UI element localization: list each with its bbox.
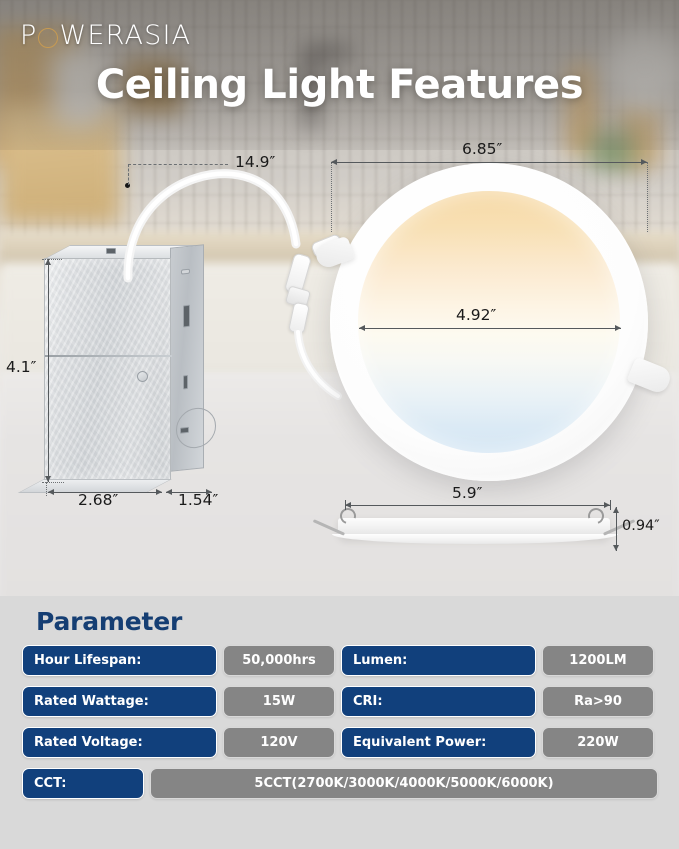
parameter-section-title: Parameter <box>36 607 182 636</box>
logo-text-after: WERASIA <box>59 20 191 51</box>
downlight-side-profile <box>320 500 630 558</box>
parameter-panel: Parameter Hour Lifespan: 50,000hrs Lumen… <box>0 596 679 849</box>
param-value-rated-voltage: 120V <box>223 727 335 758</box>
ext-line-jbox-left <box>46 482 47 496</box>
profile-lens-edge <box>332 534 618 544</box>
param-label-cct: CCT: <box>22 768 144 799</box>
param-value-lumen: 1200LM <box>542 645 654 676</box>
product-infographic: P WERASIA Ceiling Light Features <box>0 0 679 849</box>
junction-box-front-face <box>44 258 171 480</box>
ext-line-downlight-right <box>647 162 648 232</box>
dim-line-lens-diameter <box>359 328 621 329</box>
tick-profile-left <box>345 500 346 510</box>
param-value-cct: 5CCT(2700K/3000K/4000K/5000K/6000K) <box>150 768 658 799</box>
dim-label-depth: 1.54″ <box>178 491 218 509</box>
dim-label-cable-length: 14.9″ <box>235 153 275 171</box>
table-row: Rated Wattage: 15W CRI: Ra>90 <box>22 686 658 717</box>
logo-o-ring-icon <box>38 28 58 48</box>
logo-text-before: P <box>20 20 37 51</box>
leader-vertical-cable <box>128 164 129 185</box>
param-value-equivalent-power: 220W <box>542 727 654 758</box>
table-row: Hour Lifespan: 50,000hrs Lumen: 1200LM <box>22 645 658 676</box>
dim-line-outer-diameter <box>331 162 647 163</box>
dim-label-height: 4.1″ <box>6 358 36 376</box>
dim-line-height <box>48 259 49 482</box>
param-label-hour-lifespan: Hour Lifespan: <box>22 645 217 676</box>
dim-label-width: 2.68″ <box>78 491 118 509</box>
param-value-rated-wattage: 15W <box>223 686 335 717</box>
table-row: Rated Voltage: 120V Equivalent Power: 22… <box>22 727 658 758</box>
table-row: CCT: 5CCT(2700K/3000K/4000K/5000K/6000K) <box>22 768 658 799</box>
dim-label-lens-diameter: 4.92″ <box>456 306 496 324</box>
param-value-cri: Ra>90 <box>542 686 654 717</box>
leader-horizontal-cable <box>128 164 228 165</box>
powerasia-logo: P WERASIA <box>20 20 191 51</box>
dim-line-profile-width <box>345 505 610 506</box>
dim-label-outer-diameter: 6.85″ <box>462 140 502 158</box>
param-label-rated-voltage: Rated Voltage: <box>22 727 217 758</box>
tick-profile-right <box>610 500 611 510</box>
knockout-slot-upper <box>183 305 190 328</box>
param-label-lumen: Lumen: <box>341 645 536 676</box>
dim-line-profile-thickness <box>616 507 617 551</box>
param-label-rated-wattage: Rated Wattage: <box>22 686 217 717</box>
galvanized-texture <box>45 259 170 479</box>
dim-label-profile-width: 5.9″ <box>452 484 482 502</box>
page-title: Ceiling Light Features <box>0 62 679 108</box>
knockout-top-entry <box>106 248 116 254</box>
param-value-hour-lifespan: 50,000hrs <box>223 645 335 676</box>
knockout-slot-mid <box>183 375 188 390</box>
parameter-table: Hour Lifespan: 50,000hrs Lumen: 1200LM R… <box>22 645 658 809</box>
dim-label-profile-thickness: 0.94″ <box>622 518 660 534</box>
junction-box-product <box>44 258 214 488</box>
junction-box-seam <box>45 355 172 357</box>
ext-line-downlight-left <box>331 162 332 232</box>
param-label-equivalent-power: Equivalent Power: <box>341 727 536 758</box>
screw-boss <box>137 371 148 382</box>
param-label-cri: CRI: <box>341 686 536 717</box>
